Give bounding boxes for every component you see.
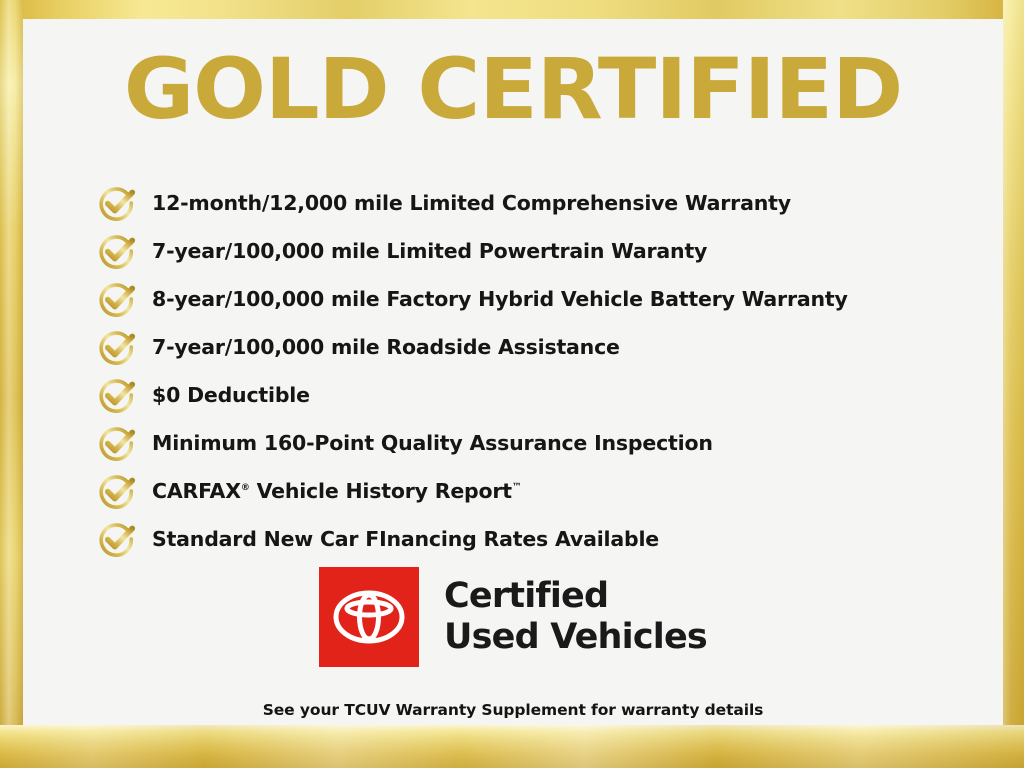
list-item: 12-month/12,000 mile Limited Comprehensi…: [95, 179, 995, 227]
lockup-wordmark: Certified Used Vehicles: [444, 576, 707, 658]
check-circle-icon: [95, 181, 139, 225]
lockup-line-1: Certified: [444, 576, 707, 617]
list-item-label: Minimum 160-Point Quality Assurance Insp…: [152, 431, 713, 455]
list-item: 7-year/100,000 mile Limited Powertrain W…: [95, 227, 995, 275]
list-item: 7-year/100,000 mile Roadside Assistance: [95, 323, 995, 371]
warranty-footnote: See your TCUV Warranty Supplement for wa…: [23, 700, 1003, 720]
gold-certified-poster: GOLD CERTIFIED 12-month/12,000 mile Limi…: [0, 0, 1024, 768]
check-circle-icon: [95, 229, 139, 273]
list-item-label: Standard New Car FInancing Rates Availab…: [152, 527, 659, 551]
lockup-line-2: Used Vehicles: [444, 617, 707, 658]
list-item-label: 8-year/100,000 mile Factory Hybrid Vehic…: [152, 287, 848, 311]
check-circle-icon: [95, 373, 139, 417]
toyota-certified-lockup: Certified Used Vehicles: [23, 567, 1003, 667]
trademark-mark: ™: [512, 482, 522, 493]
frame-border-right-sheen: [1003, 0, 1024, 768]
frame-border-top: [0, 0, 1024, 19]
frame-border-left-sheen: [0, 0, 23, 768]
carfax-description: Vehicle History Report: [250, 479, 512, 503]
list-item-label: 12-month/12,000 mile Limited Comprehensi…: [152, 191, 791, 215]
list-item: $0 Deductible: [95, 371, 995, 419]
check-circle-icon: [95, 517, 139, 561]
carfax-wordmark: CARFAX: [152, 479, 241, 503]
frame-border-bottom-sheen: [0, 725, 1024, 768]
check-circle-icon: [95, 421, 139, 465]
list-item: CARFAX® Vehicle History Report™: [95, 467, 995, 515]
list-item-label: 7-year/100,000 mile Limited Powertrain W…: [152, 239, 707, 263]
page-title: GOLD CERTIFIED: [23, 41, 1003, 137]
registered-mark: ®: [241, 483, 250, 493]
list-item: Standard New Car FInancing Rates Availab…: [95, 515, 995, 563]
feature-list: 12-month/12,000 mile Limited Comprehensi…: [95, 179, 995, 563]
list-item-label: 7-year/100,000 mile Roadside Assistance: [152, 335, 620, 359]
toyota-emblem-icon: [319, 567, 419, 667]
check-circle-icon: [95, 277, 139, 321]
list-item: 8-year/100,000 mile Factory Hybrid Vehic…: [95, 275, 995, 323]
list-item-label-carfax: CARFAX® Vehicle History Report™: [152, 479, 522, 503]
check-circle-icon: [95, 325, 139, 369]
list-item-label: $0 Deductible: [152, 383, 310, 407]
list-item: Minimum 160-Point Quality Assurance Insp…: [95, 419, 995, 467]
poster-card: GOLD CERTIFIED 12-month/12,000 mile Limi…: [23, 19, 1003, 725]
check-circle-icon: [95, 469, 139, 513]
